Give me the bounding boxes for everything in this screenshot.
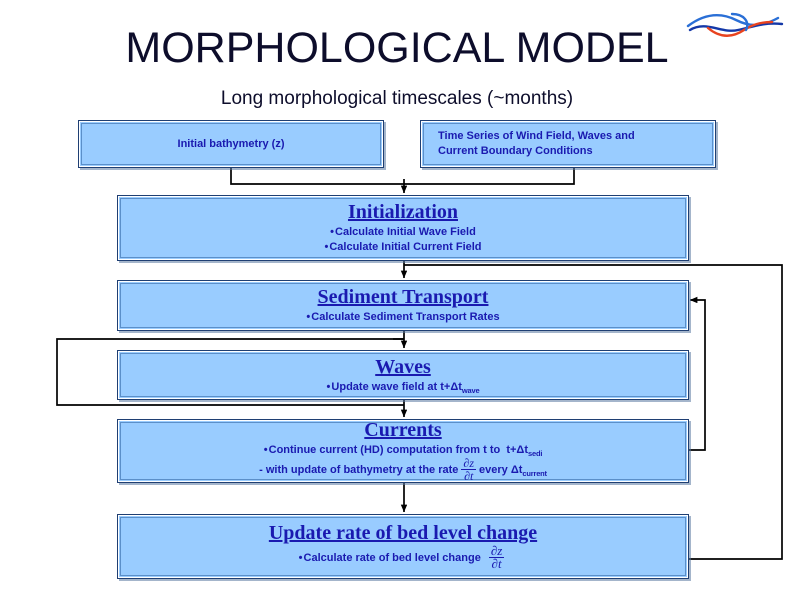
node-waves[interactable]: Waves •Update wave field at t+Δtwave: [117, 350, 689, 400]
update-bed-partial-derivative: ∂z ∂t: [489, 545, 504, 570]
node-update-bed-level-header: Update rate of bed level change: [269, 522, 537, 545]
node-update-bed-level[interactable]: Update rate of bed level change •Calcula…: [117, 514, 689, 579]
node-initial-bathymetry[interactable]: Initial bathymetry (z): [78, 120, 384, 168]
node-currents-header: Currents: [364, 419, 441, 442]
node-currents-line-2: - with update of bathymetry at the rate …: [259, 458, 547, 483]
currents-partial-derivative: ∂z ∂t: [461, 457, 476, 482]
node-initialization-bullet-1: •Calculate Initial Wave Field: [330, 225, 476, 240]
wire-currents-feedback-loop: [688, 300, 705, 450]
node-initialization-bullet-2: •Calculate Initial Current Field: [324, 240, 481, 255]
node-time-series-line1: Time Series of Wind Field, Waves and: [424, 129, 635, 144]
node-waves-bullet-1: •Update wave field at t+Δtwave: [327, 380, 480, 395]
node-currents[interactable]: Currents •Continue current (HD) computat…: [117, 419, 689, 483]
node-initial-bathymetry-label: Initial bathymetry (z): [178, 137, 285, 152]
node-sediment-transport[interactable]: Sediment Transport •Calculate Sediment T…: [117, 280, 689, 331]
slide-canvas: MORPHOLOGICAL MODEL Long morphological t…: [0, 0, 794, 596]
node-sediment-transport-header: Sediment Transport: [318, 286, 489, 309]
wire-bathymetry-to-initialization: [231, 168, 404, 184]
node-initialization-header: Initialization: [348, 201, 458, 224]
node-time-series[interactable]: Time Series of Wind Field, Waves and Cur…: [420, 120, 716, 168]
node-sediment-transport-bullet-1: •Calculate Sediment Transport Rates: [306, 310, 499, 325]
wire-timeseries-to-initialization: [404, 168, 574, 184]
node-update-bed-level-bullet: •Calculate rate of bed level change ∂z ∂…: [299, 546, 508, 571]
node-initialization[interactable]: Initialization •Calculate Initial Wave F…: [117, 195, 689, 261]
node-time-series-line2: Current Boundary Conditions: [424, 144, 593, 159]
node-waves-header: Waves: [375, 356, 431, 379]
node-currents-line-1: •Continue current (HD) computation from …: [264, 443, 542, 458]
